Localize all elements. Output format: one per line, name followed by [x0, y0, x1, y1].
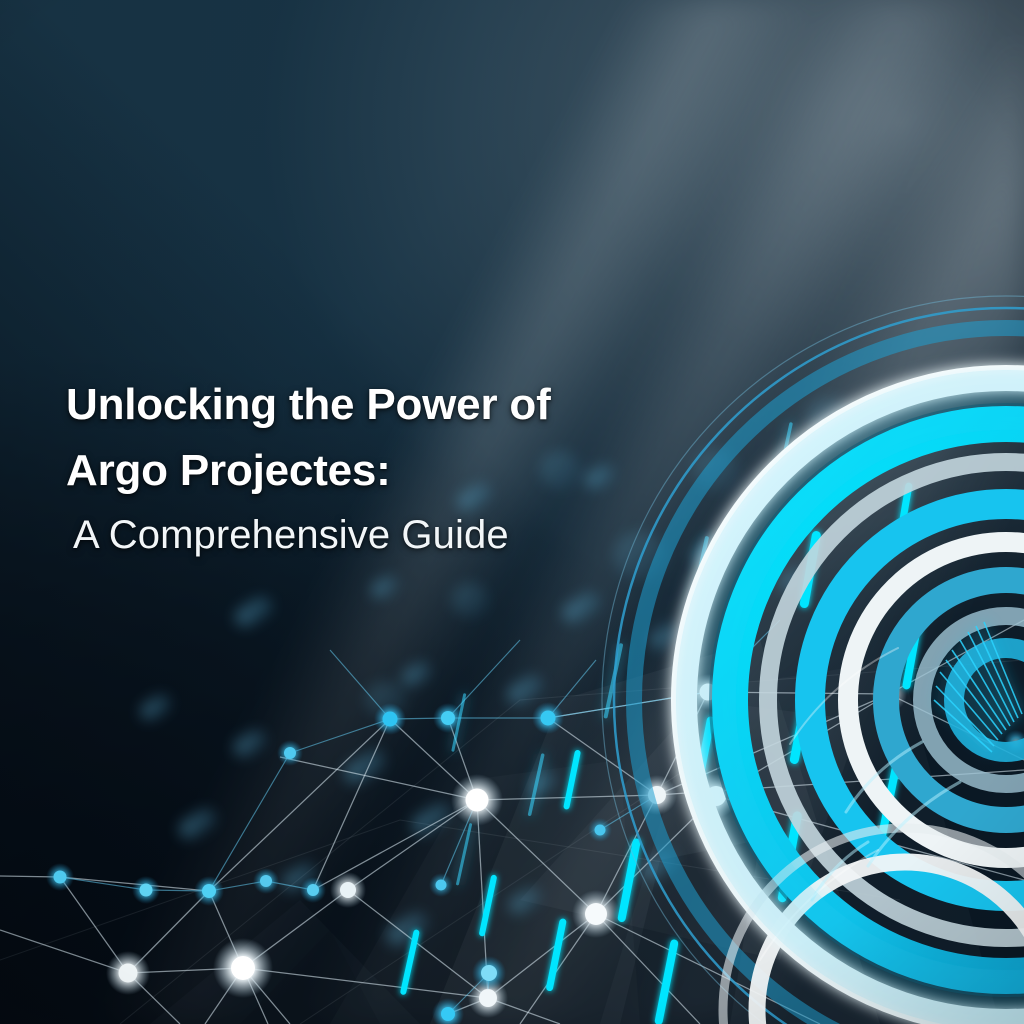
page-title-line1: Unlocking the Power of: [66, 372, 706, 438]
title-block: Unlocking the Power of Argo Projectes: A…: [66, 372, 706, 566]
poster-canvas: Unlocking the Power of Argo Projectes: A…: [0, 0, 1024, 1024]
page-title-line2: Argo Projectes:: [66, 438, 706, 504]
page-subtitle: A Comprehensive Guide: [73, 504, 706, 566]
